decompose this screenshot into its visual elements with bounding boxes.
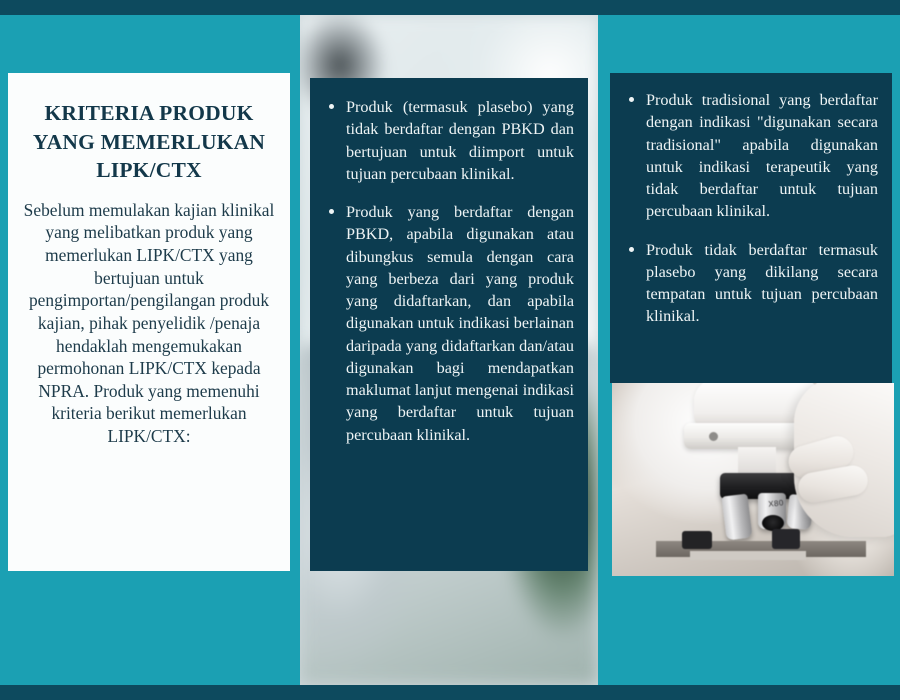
intro-paragraph: Sebelum memulakan kajian klinikal yang m… (22, 199, 276, 448)
list-item: Produk tradisional yang berdaftar dengan… (624, 89, 878, 223)
top-band (0, 0, 900, 15)
criteria-list-card-middle: Produk (termasuk plasebo) yang tidak ber… (310, 78, 588, 571)
microscope-stage-clip-right-icon (772, 529, 800, 549)
page-title: KRITERIA PRODUK YANG MEMERLUKAN LIPK/CTX (22, 99, 276, 185)
right-bullet-list: Produk tradisional yang berdaftar dengan… (624, 89, 878, 328)
microscope-objective-left-icon (721, 494, 752, 541)
list-item: Produk (termasuk plasebo) yang tidak ber… (324, 96, 574, 185)
microscope-specimen-slide-icon (690, 551, 806, 560)
list-item: Produk tidak berdaftar termasuk plasebo … (624, 239, 878, 328)
criteria-intro-card: KRITERIA PRODUK YANG MEMERLUKAN LIPK/CTX… (8, 73, 290, 571)
microscope-photo: X80 (612, 383, 894, 576)
slide-canvas: KRITERIA PRODUK YANG MEMERLUKAN LIPK/CTX… (0, 0, 900, 700)
microscope-stage-clip-left-icon (682, 531, 712, 549)
middle-bullet-list: Produk (termasuk plasebo) yang tidak ber… (324, 96, 574, 446)
bottom-band (0, 685, 900, 700)
criteria-list-card-right: Produk tradisional yang berdaftar dengan… (610, 73, 892, 383)
microscope-knob-icon (709, 432, 718, 441)
list-item: Produk yang berdaftar dengan PBKD, apabi… (324, 201, 574, 446)
